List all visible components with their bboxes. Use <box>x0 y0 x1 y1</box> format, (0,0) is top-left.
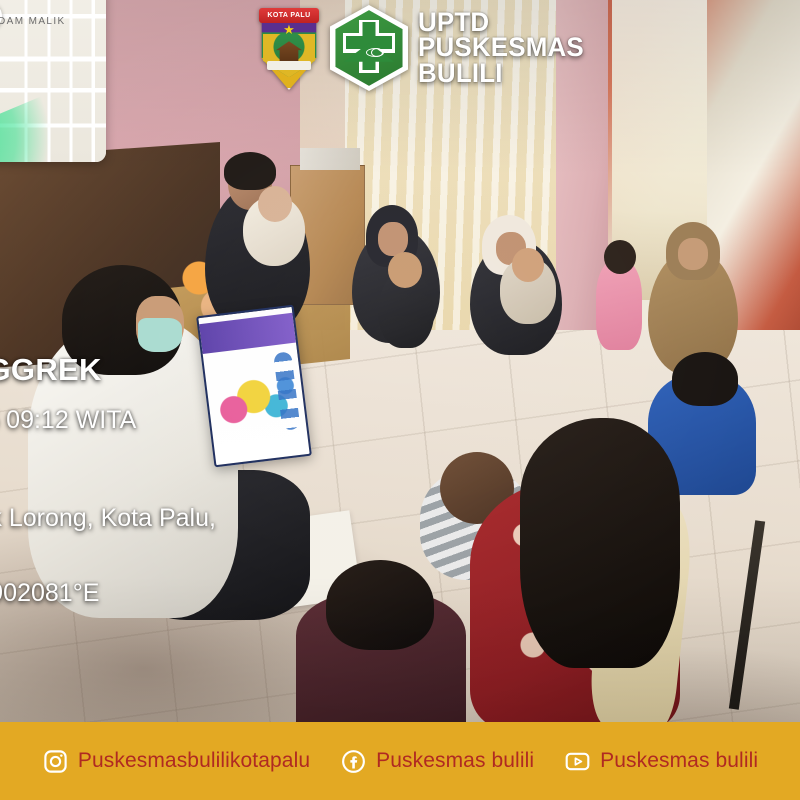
brand-line-2: PUSKESMAS <box>418 35 584 60</box>
instagram-icon[interactable] <box>42 748 69 775</box>
crest-banner-text: KOTA PALU <box>267 12 310 19</box>
gps-address-line-2: si Tengah <box>0 534 408 566</box>
photo-baby-1-head <box>258 186 292 222</box>
photo-person-blue-shirt-hair <box>672 352 738 406</box>
logo-ring-right-icon <box>371 48 383 57</box>
gps-stamp-overlay: DU ANGGREK 0/08/2025 09:12 WITA n 26°C d… <box>0 352 408 662</box>
gps-spacer-4 <box>0 614 408 627</box>
youtube-icon[interactable] <box>564 748 591 775</box>
photo-foreground-mother-hair <box>520 418 680 668</box>
photo-baby-2-head <box>512 248 544 282</box>
gps-address-line-1: dam Malik Lorong, Kota Palu, <box>0 502 408 534</box>
gps-temperature: n 26°C <box>0 454 408 483</box>
photo-box-papers <box>300 148 360 170</box>
gps-spacer-1 <box>0 441 408 454</box>
instagram-handle[interactable]: Puskesmasbulilikotapalu <box>78 749 310 773</box>
facebook-icon[interactable] <box>340 748 367 775</box>
facebook-handle[interactable]: Puskesmas bulili <box>376 749 534 773</box>
photo-staff-uniform-face <box>678 238 708 270</box>
gps-location-title: DU ANGGREK <box>0 352 408 388</box>
green-hexagon-medical-cross-logo-icon <box>330 5 408 91</box>
gps-coordinates: 4°S, 119.902081°E <box>0 579 408 608</box>
header-brand-bar: ★ KOTA PALU UPTD PUSKESMAS BULILI <box>0 0 800 96</box>
social-item-youtube[interactable]: Puskesmas bulili <box>564 748 758 775</box>
youtube-handle[interactable]: Puskesmas bulili <box>600 749 758 773</box>
brand-line-3: BULILI <box>418 61 584 86</box>
gps-spacer-3 <box>0 566 408 579</box>
photo-health-worker-mask <box>138 318 182 352</box>
photo-person-mother-2-face <box>378 222 408 256</box>
crest-motto-ribbon <box>267 61 312 70</box>
crest-banner: KOTA PALU <box>259 8 319 23</box>
gps-datetime: 0/08/2025 09:12 WITA <box>0 406 408 435</box>
social-item-instagram[interactable]: Puskesmasbulilikotapalu <box>42 748 310 775</box>
crest-star-icon: ★ <box>283 23 295 36</box>
gps-compass-heading: 147° SE <box>0 627 408 656</box>
photo-toddler-2-head <box>604 240 636 274</box>
photo-toddler-1-head <box>388 252 422 288</box>
brand-title: UPTD PUSKESMAS BULILI <box>418 10 584 86</box>
screenshot-frame: DAM MALIK ★ KOTA PALU UPTD <box>0 0 800 800</box>
photo-person-mother-1-hair <box>224 152 276 190</box>
poster-header-band <box>199 313 296 354</box>
gps-spacer-2 <box>0 489 408 502</box>
social-item-facebook[interactable]: Puskesmas bulili <box>340 748 534 775</box>
kota-palu-coat-of-arms-icon: ★ KOTA PALU <box>258 6 320 90</box>
social-footer-bar: Puskesmasbulilikotapalu Puskesmas bulili… <box>0 722 800 800</box>
